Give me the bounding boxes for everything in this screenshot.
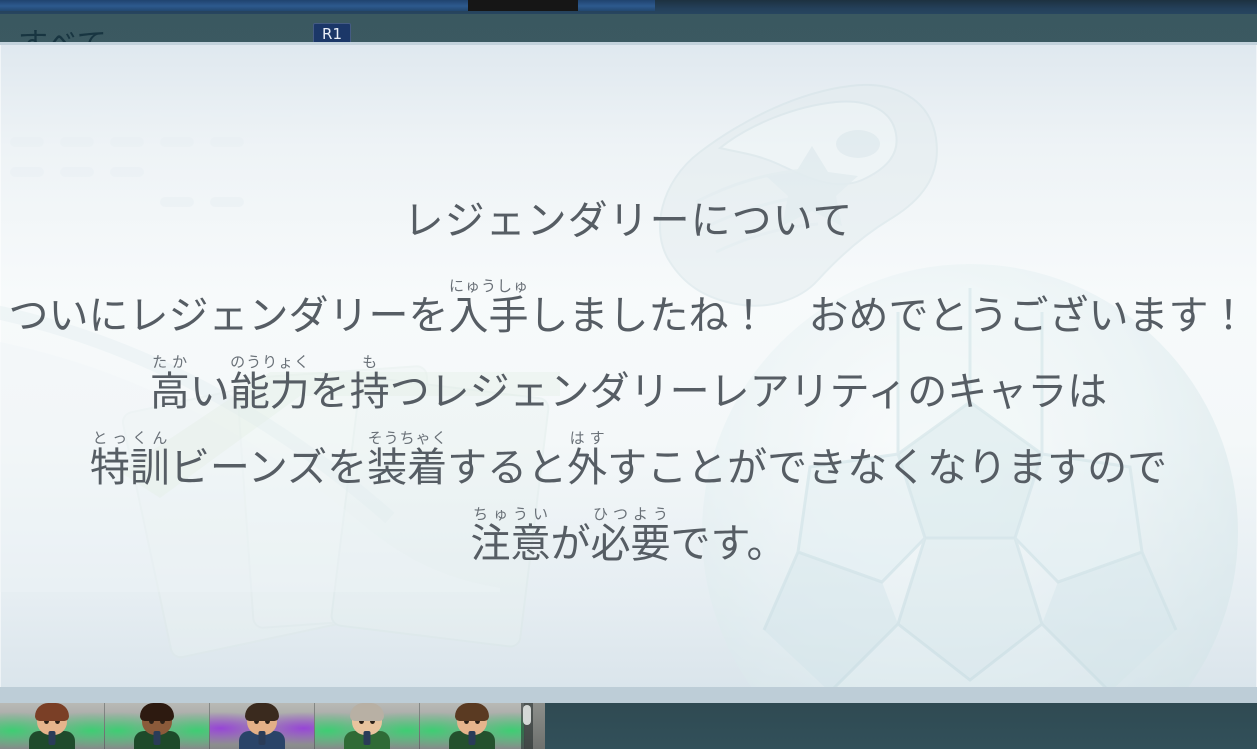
portrait-collar — [364, 731, 371, 745]
character-portrait — [130, 705, 184, 749]
dialog-text-run: を — [310, 369, 350, 415]
dialog-text-run: い — [190, 369, 230, 415]
dialog-text-run: つレジェンダリーレアリティのキャラは — [390, 369, 1108, 415]
dialog-text-run: すると — [447, 445, 567, 491]
ruby-入手: 入手にゅうしゅ — [449, 293, 529, 339]
info-dialog: レジェンダリーについて ついにレジェンダリーを入手にゅうしゅしましたね！ おめで… — [0, 42, 1257, 703]
dialog-title: レジェンダリーについて — [0, 201, 1257, 241]
furigana: のうりょく — [230, 353, 310, 371]
dot-grid-watermark — [0, 97, 520, 297]
character-portrait — [25, 705, 79, 749]
portrait-hair — [140, 703, 174, 721]
furigana: ひつよう — [591, 505, 671, 523]
dialog-text-run: です。 — [671, 521, 787, 567]
furigana: とっくん — [90, 429, 170, 447]
furigana: にゅうしゅ — [449, 277, 529, 295]
tab-selected-block — [468, 0, 578, 11]
character-roster[interactable] — [0, 703, 545, 749]
dialog-line-3: 特訓とっくんビーンズを装着そうちゃくすると外はすすことができなくなりますので — [0, 429, 1257, 488]
character-portrait — [340, 705, 394, 749]
portrait-collar — [469, 731, 476, 745]
portrait-collar — [259, 731, 266, 745]
furigana: ちゅうい — [471, 505, 551, 523]
dialog-bottom-border — [0, 687, 1257, 703]
furigana: そうちゃく — [367, 429, 447, 447]
ruby-高: 高たか — [150, 369, 190, 415]
dialog-text-run: しましたね！ おめでとうございます！ — [529, 293, 1249, 339]
character-portrait — [445, 705, 499, 749]
furigana: はす — [567, 429, 607, 447]
ruby-装着: 装着そうちゃく — [367, 445, 447, 491]
dialog-top-border — [0, 42, 1257, 45]
ruby-特訓: 特訓とっくん — [90, 445, 170, 491]
portrait-hair — [350, 703, 384, 721]
dialog-line-2: 高たかい能力のうりょくを持もつレジェンダリーレアリティのキャラは — [0, 353, 1257, 412]
character-card-2[interactable] — [105, 703, 210, 749]
character-card-5[interactable] — [420, 703, 525, 749]
character-card-4[interactable] — [315, 703, 420, 749]
dialog-line-1: ついにレジェンダリーを入手にゅうしゅしましたね！ おめでとうございます！ — [0, 277, 1257, 336]
portrait-hair — [35, 703, 69, 721]
furigana: も — [350, 353, 390, 371]
furigana: たか — [150, 353, 190, 371]
character-card-1[interactable] — [0, 703, 105, 749]
game-screen: すべて R1 — [0, 0, 1257, 749]
ruby-必要: 必要ひつよう — [591, 521, 671, 567]
character-card-3[interactable] — [210, 703, 315, 749]
ruby-能力: 能力のうりょく — [230, 369, 310, 415]
character-portrait — [235, 705, 289, 749]
detail-panel — [545, 703, 1257, 749]
dialog-text-run: ビーンズを — [170, 445, 367, 491]
dialog-text-run: すことができなくなりますので — [607, 445, 1167, 491]
dialog-line-4: 注意ちゅういが必要ひつようです。 — [0, 505, 1257, 564]
portrait-collar — [49, 731, 56, 745]
portrait-hair — [245, 703, 279, 721]
ruby-外: 外はす — [567, 445, 607, 491]
roster-scrollbar-thumb[interactable] — [523, 705, 531, 725]
ruby-持: 持も — [350, 369, 390, 415]
portrait-hair — [455, 703, 489, 721]
ruby-注意: 注意ちゅうい — [471, 521, 551, 567]
dialog-text-run: ついにレジェンダリーを — [9, 293, 449, 339]
roster-scrollbar[interactable] — [521, 703, 533, 749]
portrait-collar — [154, 731, 161, 745]
dialog-text-run: が — [551, 521, 591, 567]
